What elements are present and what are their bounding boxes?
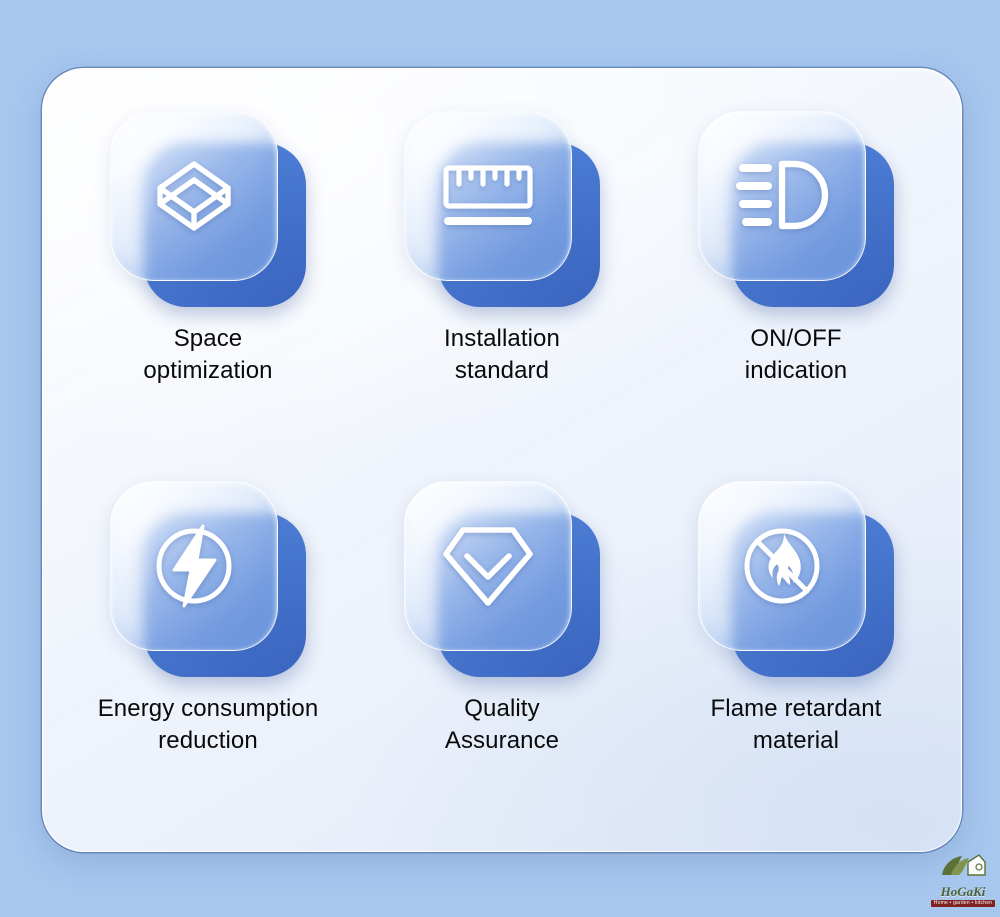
tile-glass-plate [698,111,866,281]
icon-tile [110,111,306,307]
icon-tile [110,481,306,677]
icon-tile [404,481,600,677]
feature-label: Quality Assurance [445,693,559,756]
tile-glass-plate [404,481,572,651]
tile-glass-plate [404,111,572,281]
feature-item-quality-assurance[interactable]: Quality Assurance [355,463,649,833]
watermark-logo: HoGaKi Home • garden • kitchen [934,853,992,907]
feature-label: ON/OFF indication [745,323,847,386]
tile-glass-plate [698,481,866,651]
headlight-beam-icon [732,153,832,239]
feature-item-flame-retardant-material[interactable]: Flame retardant material [649,463,943,833]
tile-glass-plate [110,111,278,281]
icon-tile [698,111,894,307]
no-flame-icon [734,518,830,614]
watermark-name: HoGaKi [941,885,986,898]
feature-grid: Space optimization [43,69,961,851]
feature-item-installation-standard[interactable]: Installation standard [355,93,649,463]
lightning-bolt-circle-icon [146,518,242,614]
feature-item-on-off-indication[interactable]: ON/OFF indication [649,93,943,463]
icon-tile [698,481,894,677]
feature-item-energy-consumption-reduction[interactable]: Energy consumption reduction [61,463,355,833]
feature-label: Installation standard [444,323,560,386]
feature-label: Energy consumption reduction [98,693,319,756]
leaf-house-logo-icon [938,853,988,884]
diamond-check-icon [438,520,538,612]
feature-label: Flame retardant material [711,693,882,756]
watermark-tagline: Home • garden • kitchen [931,900,995,907]
layers-stack-icon [146,148,242,244]
glass-feature-card: Space optimization [42,68,962,852]
feature-label: Space optimization [143,323,272,386]
tile-glass-plate [110,481,278,651]
feature-item-space-optimization[interactable]: Space optimization [61,93,355,463]
ruler-icon [438,152,538,240]
icon-tile [404,111,600,307]
